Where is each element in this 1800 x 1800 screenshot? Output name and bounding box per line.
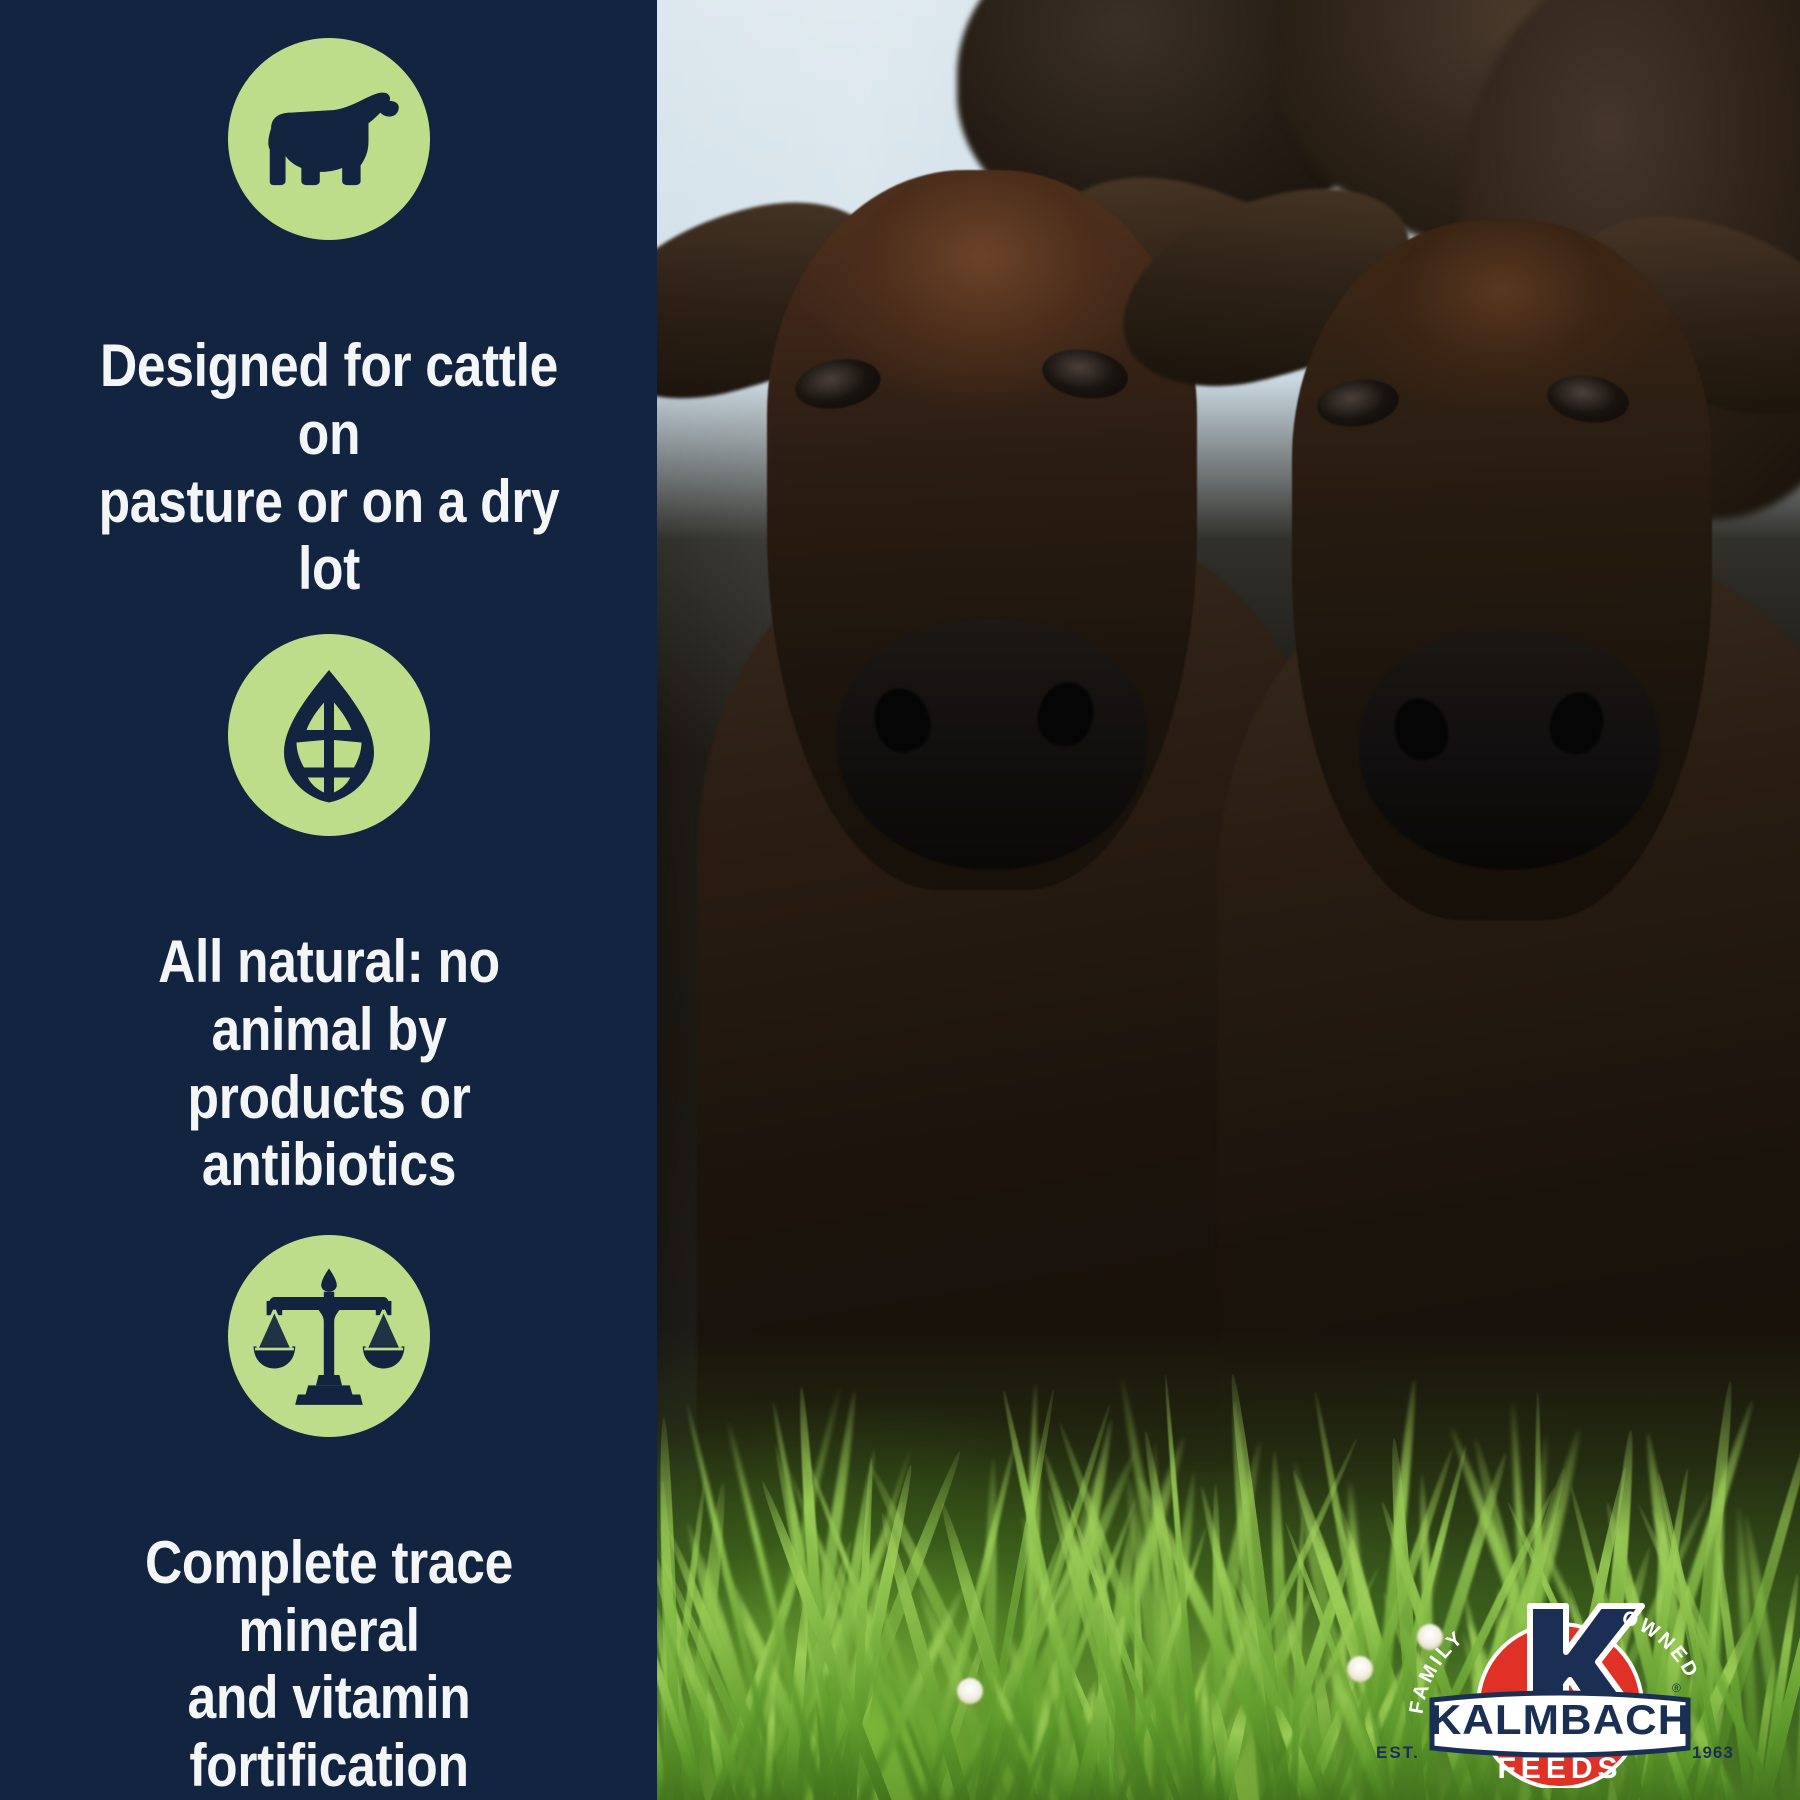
feature-text-cattle-on-pasture: Designed for cattle on pasture or on a d… xyxy=(71,332,587,603)
cow-icon xyxy=(228,38,430,240)
feature-text-all-natural: All natural: no animal by products or an… xyxy=(71,928,587,1199)
logo-wordmark-kalmbach: KALMBACH xyxy=(1430,1697,1691,1744)
feature-panel: Designed for cattle on pasture or on a d… xyxy=(0,0,657,1800)
promo-poster: Designed for cattle on pasture or on a d… xyxy=(0,0,1800,1800)
feature-item-trace-mineral: Complete trace mineral and vitamin forti… xyxy=(0,1235,657,1800)
feature-item-cattle-on-pasture: Designed for cattle on pasture or on a d… xyxy=(0,38,657,603)
feature-text-trace-mineral: Complete trace mineral and vitamin forti… xyxy=(71,1529,587,1800)
logo-est-year: 1963 xyxy=(1692,1743,1734,1762)
cattle-photograph: FAMILY OWNED KALMBACH FEEDS EST. 1963 ® xyxy=(657,0,1800,1800)
feature-item-all-natural: All natural: no animal by products or an… xyxy=(0,634,657,1199)
kalmbach-feeds-logo: FAMILY OWNED KALMBACH FEEDS EST. 1963 ® xyxy=(1370,1588,1750,1788)
cow-left-muzzle xyxy=(837,620,1147,870)
logo-registered-mark: ® xyxy=(1672,1681,1681,1695)
logo-wordmark-feeds: FEEDS xyxy=(1497,1752,1622,1785)
balance-scales-icon xyxy=(228,1235,430,1437)
leaf-icon xyxy=(228,634,430,836)
logo-est-label: EST. xyxy=(1376,1743,1420,1762)
white-clover-blossom xyxy=(957,1678,983,1704)
